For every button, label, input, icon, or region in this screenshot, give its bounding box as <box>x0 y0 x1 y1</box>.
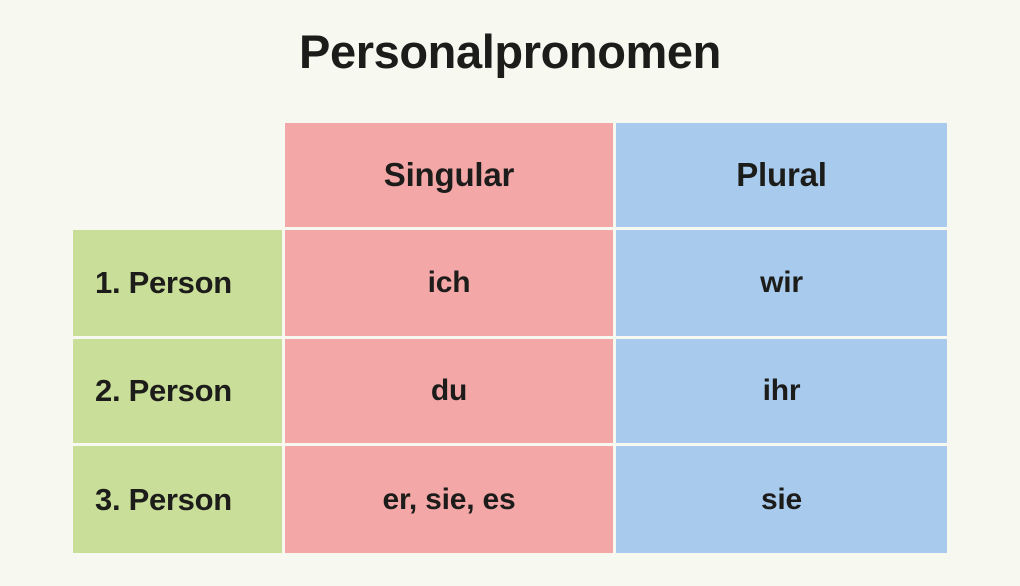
row-header-1-person: 1. Person <box>73 230 285 339</box>
table-corner-cell <box>73 123 285 230</box>
cell-1-person-plural: wir <box>616 230 947 339</box>
cell-2-person-plural: ihr <box>616 339 947 446</box>
cell-1-person-singular: ich <box>285 230 616 339</box>
column-header-plural: Plural <box>616 123 947 230</box>
cell-3-person-plural: sie <box>616 446 947 553</box>
row-header-2-person: 2. Person <box>73 339 285 446</box>
row-header-3-person: 3. Person <box>73 446 285 553</box>
personal-pronouns-table: Singular Plural 1. Person ich wir 2. Per… <box>73 123 947 553</box>
cell-2-person-singular: du <box>285 339 616 446</box>
page-title: Personalpronomen <box>0 26 1020 78</box>
cell-3-person-singular: er, sie, es <box>285 446 616 553</box>
column-header-singular: Singular <box>285 123 616 230</box>
